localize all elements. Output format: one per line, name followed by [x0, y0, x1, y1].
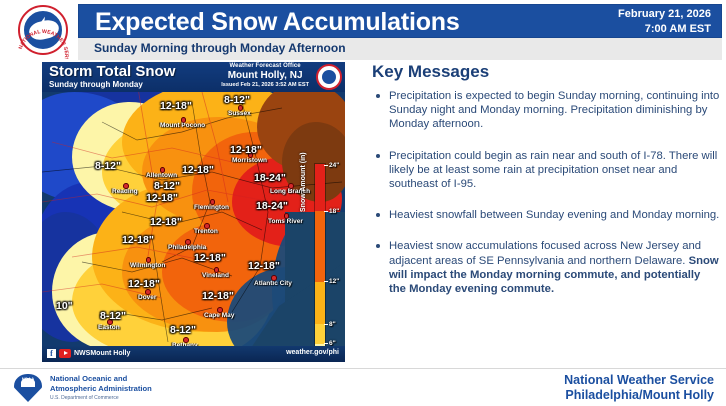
- noaa-line-1: National Oceanic and: [50, 374, 152, 384]
- snow-amount-label: 8-12": [224, 94, 250, 106]
- map-title: Storm Total Snow: [49, 63, 175, 80]
- facebook-icon[interactable]: f: [47, 349, 56, 358]
- map-subtitle: Sunday through Monday: [49, 80, 143, 90]
- snow-amount-colorbar: 24"18"12"8"6"4"3"2": [314, 163, 326, 362]
- bullet-icon: [376, 154, 380, 158]
- snow-accumulation-map[interactable]: 24"18"12"8"6"4"3"2" Snow Amount (in) Sto…: [42, 62, 345, 362]
- snow-amount-label: 12-18": [248, 260, 280, 272]
- snow-amount-label: 10": [56, 300, 73, 312]
- wfo-label: Weather Forecast Office: [221, 62, 309, 70]
- colorbar-band: [315, 282, 325, 324]
- city-marker-dot: [185, 239, 191, 245]
- noaa-seal-text: NOAA: [20, 376, 36, 381]
- city-label: Dover: [138, 294, 156, 301]
- snow-amount-label: 18-24": [254, 172, 286, 184]
- city-label: Toms River: [268, 218, 303, 225]
- header-subtitle: Sunday Morning through Monday Afternoon: [94, 41, 346, 55]
- bullet-icon: [376, 244, 380, 248]
- city-label: Reading: [112, 188, 138, 195]
- city-label: Atlantic City: [254, 280, 292, 287]
- snow-amount-label: 8-12": [170, 324, 196, 336]
- colorbar-axis-label: Snow Amount (in): [300, 152, 307, 212]
- colorbar-band: [315, 211, 325, 282]
- key-messages-list: Precipitation is expected to begin Sunda…: [372, 89, 720, 296]
- map-footer: f NWSMount Holly weather.gov/phi: [42, 346, 345, 362]
- snow-amount-label: 12-18": [182, 164, 214, 176]
- social-handle: NWSMount Holly: [74, 350, 130, 357]
- snow-amount-label: 8-12": [154, 180, 180, 192]
- bullet-icon: [376, 94, 380, 98]
- city-marker-dot: [271, 275, 277, 281]
- city-marker-dot: [288, 183, 294, 189]
- nws-office-line-1: National Weather Service: [564, 373, 714, 388]
- city-label: Morristown: [232, 157, 267, 164]
- colorbar-tick-label: 18": [329, 208, 339, 215]
- city-marker-dot: [160, 167, 166, 173]
- city-label: Cape May: [204, 312, 234, 319]
- key-messages-title: Key Messages: [372, 62, 720, 82]
- key-message-text: Precipitation is expected to begin Sunda…: [389, 90, 719, 130]
- map-footer-url[interactable]: weather.gov/phi: [286, 349, 339, 356]
- snow-amount-label: 18-24": [256, 200, 288, 212]
- header-time: 7:00 AM EST: [618, 22, 711, 37]
- city-marker-dot: [210, 199, 216, 205]
- header-title-bar: Expected Snow Accumulations February 21,…: [78, 4, 722, 38]
- noaa-agency-name: National Oceanic and Atmospheric Adminis…: [50, 374, 152, 402]
- page-header: NATIONAL WEATHER SERVICE Expected Snow A…: [0, 0, 726, 62]
- city-label: Mount Pocono: [160, 122, 205, 129]
- city-marker-dot: [123, 183, 129, 189]
- colorbar-tick-label: 24": [329, 162, 339, 169]
- snow-amount-label: 12-18": [122, 234, 154, 246]
- map-issued-time: Issued Feb 21, 2026 3:52 AM EST: [221, 81, 309, 89]
- snow-amount-label: 12-18": [150, 216, 182, 228]
- city-label: Flemington: [194, 204, 229, 211]
- snow-amount-label: 12-18": [146, 192, 178, 204]
- city-label: Easton: [98, 324, 120, 331]
- city-marker-dot: [284, 213, 290, 219]
- city-marker-dot: [204, 223, 210, 229]
- snow-amount-label: 8-12": [95, 160, 121, 172]
- nws-logo-ring-text: NATIONAL WEATHER SERVICE: [14, 3, 72, 59]
- page-title: Expected Snow Accumulations: [95, 7, 460, 37]
- map-raster: [42, 62, 345, 362]
- colorbar-tick-label: 12": [329, 278, 339, 285]
- header-subtitle-band: Sunday Morning through Monday Afternoon: [78, 38, 722, 60]
- snow-amount-label: 12-18": [160, 100, 192, 112]
- header-datetime: February 21, 2026 7:00 AM EST: [618, 7, 711, 36]
- noaa-logo-icon: NOAA: [14, 374, 42, 402]
- snow-amount-label: 12-18": [230, 144, 262, 156]
- bullet-icon: [376, 213, 380, 217]
- city-marker-dot: [181, 117, 187, 123]
- youtube-icon[interactable]: [59, 349, 71, 358]
- key-message-item: Heaviest snowfall between Sunday evening…: [372, 208, 720, 222]
- city-label: Vineland: [202, 272, 229, 279]
- noaa-line-2: Atmospheric Administration: [50, 384, 152, 394]
- city-label: Wilmington: [130, 262, 165, 269]
- colorbar-tick-label: 8": [329, 321, 336, 328]
- nws-seal-icon: [316, 64, 342, 90]
- wfo-block: Weather Forecast Office Mount Holly, NJ …: [221, 62, 309, 89]
- nws-logo-icon: NATIONAL WEATHER SERVICE: [14, 3, 72, 59]
- map-header: Storm Total Snow Sunday through Monday W…: [42, 62, 345, 92]
- colorbar-band: [315, 324, 325, 344]
- weather-graphic-page: NATIONAL WEATHER SERVICE Expected Snow A…: [0, 0, 726, 405]
- city-label: Trenton: [194, 228, 218, 235]
- city-label: Allentown: [146, 172, 177, 179]
- page-footer: NOAA National Oceanic and Atmospheric Ad…: [0, 368, 726, 406]
- city-marker-dot: [146, 257, 152, 263]
- header-date: February 21, 2026: [618, 7, 711, 22]
- snow-amount-label: 12-18": [194, 252, 226, 264]
- nws-office-block: National Weather Service Philadelphia/Mo…: [564, 373, 714, 403]
- city-marker-dot: [183, 337, 189, 343]
- key-messages-panel: Key Messages Precipitation is expected t…: [372, 62, 720, 362]
- colorbar-band: [315, 164, 325, 211]
- key-message-item: Precipitation is expected to begin Sunda…: [372, 89, 720, 132]
- noaa-department: U.S. Department of Commerce: [50, 394, 152, 402]
- key-message-text: Heaviest snowfall between Sunday evening…: [389, 209, 719, 221]
- svg-text:NATIONAL WEATHER SERVICE: NATIONAL WEATHER SERVICE: [18, 29, 69, 59]
- nws-office-line-2: Philadelphia/Mount Holly: [564, 388, 714, 403]
- city-marker-dot: [214, 267, 220, 273]
- key-message-item: Heaviest snow accumulations focused acro…: [372, 239, 720, 296]
- city-marker-dot: [217, 307, 223, 313]
- snow-amount-label: 12-18": [202, 290, 234, 302]
- map-boundaries: [42, 62, 345, 362]
- key-message-text: Heaviest snow accumulations focused acro…: [389, 240, 701, 266]
- city-label: Philadelphia: [168, 244, 206, 251]
- city-label: Sussex: [228, 110, 251, 117]
- wfo-office: Mount Holly, NJ: [221, 70, 309, 81]
- snow-amount-label: 8-12": [100, 310, 126, 322]
- snow-amount-label: 12-18": [128, 278, 160, 290]
- key-message-item: Precipitation could begin as rain near a…: [372, 149, 720, 192]
- key-message-text: Precipitation could begin as rain near a…: [389, 150, 717, 190]
